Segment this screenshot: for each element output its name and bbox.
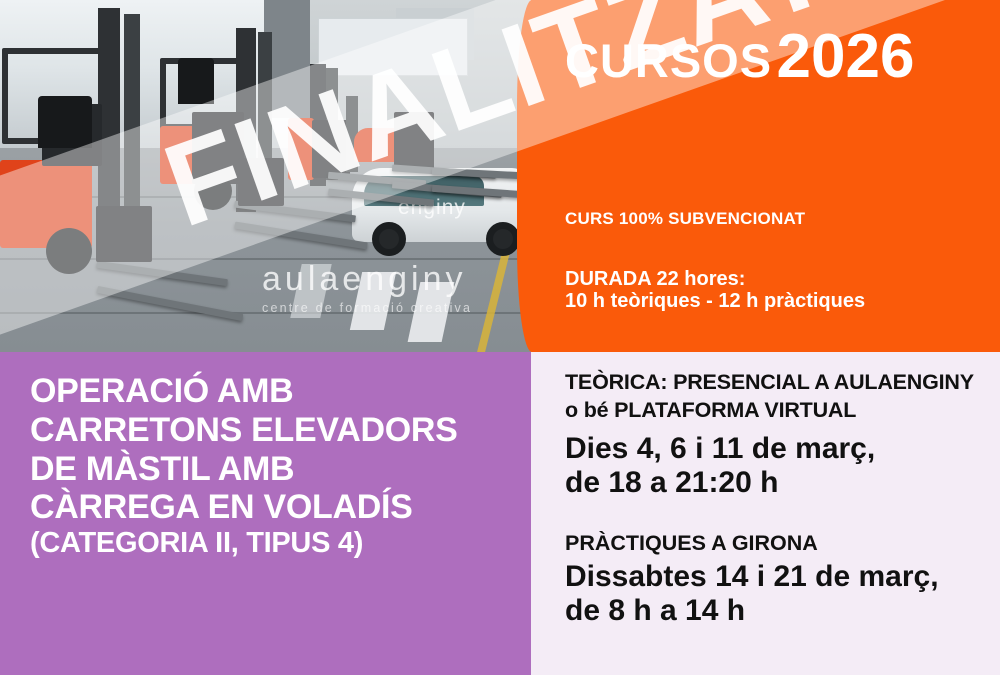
- details-panel: TEÒRICA: PRESENCIAL A AULAENGINY o bé PL…: [531, 352, 1000, 675]
- theory-dates: Dies 4, 6 i 11 de març, de 18 a 21:20 h: [565, 432, 875, 499]
- duration-line-1: DURADA 22 hores:: [565, 268, 745, 290]
- page-title: CURSOS 2026: [565, 26, 914, 88]
- van-wheel: [372, 222, 406, 256]
- course-title-line-2: CARRETONS ELEVADORS: [30, 411, 530, 450]
- practice-dates-line-1: Dissabtes 14 i 21 de març,: [565, 560, 939, 594]
- course-title-line-5: (CATEGORIA II, TIPUS 4): [30, 527, 530, 560]
- warehouse-photo: enginy: [0, 0, 531, 352]
- course-title-line-4: CÀRREGA EN VOLADÍS: [30, 488, 530, 527]
- duration-line-2: 10 h teòriques - 12 h pràctiques: [565, 290, 865, 312]
- course-title-panel: OPERACIÓ AMB CARRETONS ELEVADORS DE MÀST…: [0, 352, 531, 675]
- title-word-year: 2026: [777, 22, 915, 91]
- practice-dates-line-2: de 8 h a 14 h: [565, 594, 939, 628]
- subsidy-note: CURS 100% SUBVENCIONAT: [565, 209, 805, 228]
- duration-block: DURADA 22 hores: 10 h teòriques - 12 h p…: [565, 268, 865, 313]
- theory-label-line-2: o bé PLATAFORMA VIRTUAL: [565, 398, 856, 423]
- course-title-line-3: DE MÀSTIL AMB: [30, 450, 530, 489]
- van-wheel: [486, 222, 520, 256]
- course-title-line-1: OPERACIÓ AMB: [30, 372, 530, 411]
- floor-seam: [0, 312, 531, 314]
- theory-dates-line-2: de 18 a 21:20 h: [565, 466, 875, 500]
- photo-wall-panel: [318, 18, 468, 76]
- course-title: OPERACIÓ AMB CARRETONS ELEVADORS DE MÀST…: [30, 372, 530, 560]
- orange-left-curve: [517, 0, 547, 352]
- practice-dates: Dissabtes 14 i 21 de març, de 8 h a 14 h: [565, 560, 939, 627]
- practice-label: PRÀCTIQUES A GIRONA: [565, 531, 818, 556]
- title-word-cursos: CURSOS: [565, 34, 772, 87]
- poster-root: enginy: [0, 0, 1000, 675]
- theory-label-line-1: TEÒRICA: PRESENCIAL A AULAENGINY: [565, 370, 974, 395]
- theory-dates-line-1: Dies 4, 6 i 11 de març,: [565, 432, 875, 466]
- orange-header-panel: CURSOS 2026 CURS 100% SUBVENCIONAT DURAD…: [531, 0, 1000, 352]
